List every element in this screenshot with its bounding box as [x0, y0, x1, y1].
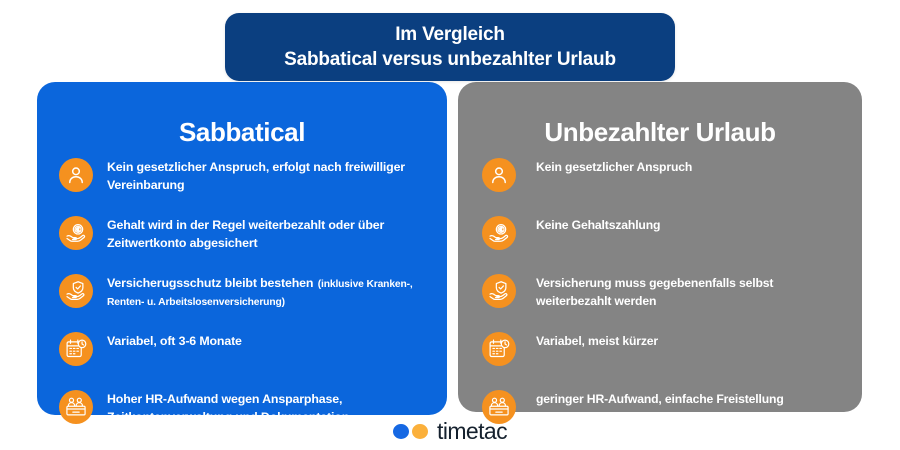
user-icon	[59, 158, 93, 192]
list-item-text: Kein gesetzlicher Anspruch, erfolgt nach…	[107, 157, 429, 194]
list-item-text: Variabel, oft 3-6 Monate	[107, 331, 242, 350]
column-title-unbezahlter-urlaub: Unbezahlter Urlaub	[458, 117, 862, 147]
timetac-logo-mark-icon	[393, 424, 428, 439]
list-item: Kein gesetzlicher Anspruch	[482, 157, 844, 205]
list-item-text: Versicherung muss gegebenenfalls selbst …	[536, 273, 844, 310]
logo-dot-blue-icon	[393, 424, 409, 439]
footer-logo: timetac	[0, 420, 900, 443]
feature-list-sabbatical: Kein gesetzlicher Anspruch, erfolgt nach…	[37, 157, 447, 447]
list-item-text: geringer HR-Aufwand, einfache Freistellu…	[536, 389, 784, 408]
logo-dot-orange-icon	[412, 424, 428, 439]
list-item-main: Gehalt wird in der Regel weiterbezahlt o…	[107, 218, 384, 250]
title-banner: Im Vergleich Sabbatical versus unbezahlt…	[225, 13, 675, 81]
hand-holding-shield-check-icon	[482, 274, 516, 308]
list-item-main: Keine Gehaltszahlung	[536, 218, 660, 232]
list-item-text: Variabel, meist kürzer	[536, 331, 658, 350]
hand-holding-euro-coin-icon	[482, 216, 516, 250]
column-title-sabbatical: Sabbatical	[37, 117, 447, 147]
list-item-text: Gehalt wird in der Regel weiterbezahlt o…	[107, 215, 429, 252]
list-item: Variabel, oft 3-6 Monate	[59, 331, 429, 379]
list-item-main: Kein gesetzlicher Anspruch	[536, 160, 692, 174]
list-item-main: Kein gesetzlicher Anspruch, erfolgt nach…	[107, 160, 405, 192]
list-item: Versicherung muss gegebenenfalls selbst …	[482, 273, 844, 321]
title-line-2: Sabbatical versus unbezahlter Urlaub	[284, 47, 616, 72]
panel-unbezahlter-urlaub: Unbezahlter Urlaub Kein gesetzlicher Ans…	[458, 82, 862, 412]
calendar-clock-icon	[482, 332, 516, 366]
list-item-main: Versicherung muss gegebenenfalls selbst …	[536, 276, 773, 308]
panel-sabbatical: Sabbatical Kein gesetzlicher Anspruch, e…	[37, 82, 447, 415]
comparison-infographic: Sabbatical Kein gesetzlicher Anspruch, e…	[0, 0, 900, 450]
list-item: Kein gesetzlicher Anspruch, erfolgt nach…	[59, 157, 429, 205]
list-item-text: Keine Gehaltszahlung	[536, 215, 660, 234]
list-item-main: Versicherugsschutz bleibt bestehen	[107, 276, 313, 290]
list-item: Variabel, meist kürzer	[482, 331, 844, 379]
hand-holding-shield-check-icon	[59, 274, 93, 308]
list-item: Gehalt wird in der Regel weiterbezahlt o…	[59, 215, 429, 263]
list-item-text: Versicherugsschutz bleibt bestehen (inkl…	[107, 273, 429, 310]
brand-name: timetac	[437, 420, 507, 443]
list-item: Keine Gehaltszahlung	[482, 215, 844, 263]
people-at-desk-icon	[59, 390, 93, 424]
list-item: Versicherugsschutz bleibt bestehen (inkl…	[59, 273, 429, 321]
list-item-main: Variabel, meist kürzer	[536, 334, 658, 348]
calendar-clock-icon	[59, 332, 93, 366]
hand-holding-euro-coin-icon	[59, 216, 93, 250]
list-item-text: Kein gesetzlicher Anspruch	[536, 157, 692, 176]
list-item-main: Variabel, oft 3-6 Monate	[107, 334, 242, 348]
title-line-1: Im Vergleich	[395, 22, 505, 47]
list-item-main: geringer HR-Aufwand, einfache Freistellu…	[536, 392, 784, 406]
user-icon	[482, 158, 516, 192]
feature-list-unbezahlter-urlaub: Kein gesetzlicher Anspruch Keine G	[458, 157, 862, 447]
